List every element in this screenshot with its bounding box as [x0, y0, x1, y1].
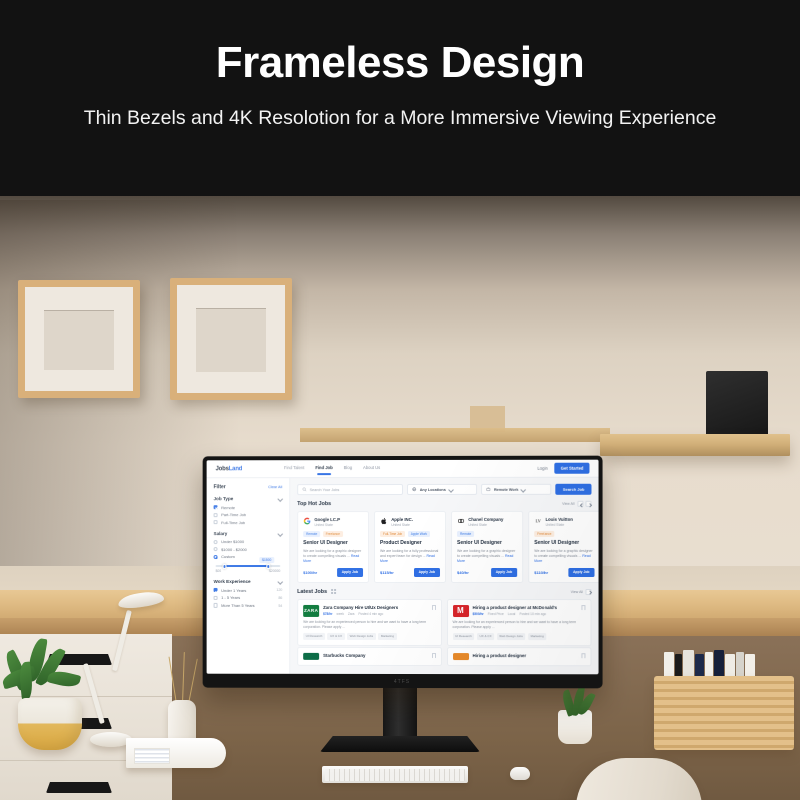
- latest-job-pay: $78/hr: [323, 612, 332, 616]
- checkbox-part-time[interactable]: Part-Time Job: [214, 512, 283, 517]
- option-count: 120: [276, 588, 282, 592]
- job-card[interactable]: LV Louis Vuitton United State Freelance: [528, 511, 598, 582]
- hot-jobs-title: Top Hot Jobs: [297, 501, 331, 507]
- latest-job-title: Hiring a product designer at McDonald's: [473, 605, 558, 611]
- checkbox-icon[interactable]: [214, 603, 218, 607]
- mouse[interactable]: [510, 767, 530, 780]
- radio-icon[interactable]: [214, 540, 218, 544]
- company-location: United State: [545, 523, 572, 527]
- hot-jobs-header: Top Hot Jobs View All: [297, 501, 591, 507]
- latest-job-tag: Web Design Jobs: [347, 633, 376, 639]
- latest-jobs-header: Latest Jobs View All: [297, 589, 591, 595]
- option-label: More Than 5 Years: [221, 603, 275, 608]
- checkbox-icon[interactable]: [214, 520, 218, 524]
- company-name: Apple INC.: [391, 517, 413, 522]
- salary-title: Salary: [214, 531, 228, 536]
- grid-view-icon[interactable]: [331, 589, 336, 594]
- chevron-down-icon[interactable]: [278, 580, 282, 584]
- slider-knob-max[interactable]: [266, 564, 271, 569]
- latest-job-period: Fixed Price: [488, 612, 504, 616]
- chanel-logo: [457, 517, 465, 525]
- monitor: 4TFS JobsLand Find Talent Find Job Blog …: [203, 456, 603, 689]
- slider-range-labels: $00 $20000: [216, 569, 281, 573]
- apply-job-button[interactable]: Apply Job: [337, 568, 363, 576]
- job-pay: $40/hr: [457, 570, 469, 575]
- job-card[interactable]: Google LC.P United State Remote Freelanc…: [297, 511, 369, 582]
- checkbox-icon[interactable]: [214, 513, 218, 517]
- apply-job-button[interactable]: Apply Job: [414, 568, 440, 576]
- latest-job-title: Hiring a product designer: [473, 653, 527, 660]
- search-icon: [302, 488, 306, 492]
- site-body: Filter Clear All Job Type Remote: [207, 478, 599, 675]
- nav-link-find-talent[interactable]: Find Talent: [284, 465, 304, 473]
- globe-icon: [412, 487, 417, 492]
- option-label: Part-Time Job: [221, 512, 282, 517]
- black-frame-on-shelf: [706, 371, 768, 441]
- option-count: 54: [278, 604, 282, 608]
- job-board-website: JobsLand Find Talent Find Job Blog About…: [207, 460, 599, 675]
- company-name: Louis Vuitton: [545, 517, 572, 522]
- search-job-button[interactable]: Search Job: [556, 484, 592, 495]
- company-location: United State: [391, 523, 413, 527]
- small-plant-pot: [558, 710, 592, 744]
- option-label: Under $1000: [221, 539, 282, 544]
- wall-shelf: [600, 434, 790, 456]
- latest-jobs-row-partial: Starbucks Company Hiring a product desig…: [297, 646, 591, 665]
- job-type-title: Job Type: [214, 496, 234, 501]
- nav-link-about-us[interactable]: About Us: [363, 465, 380, 473]
- latest-job-tag: Web Design Jobs: [497, 633, 526, 639]
- picture-frame-right: [170, 278, 292, 400]
- banner-title: Frameless Design: [216, 40, 585, 86]
- job-tag: Remote: [457, 531, 474, 537]
- job-title: Senior UI Designer: [303, 540, 363, 546]
- monitor-brand-logo: 4TFS: [394, 679, 410, 685]
- job-pay: $100/hr: [303, 570, 317, 575]
- search-bar: Search Your Jobs Any Locations: [297, 484, 591, 496]
- slider-knob-min[interactable]: [222, 564, 227, 569]
- job-title: Product Designer: [380, 540, 440, 546]
- chevron-down-icon[interactable]: [278, 497, 282, 501]
- mcdonalds-logo: M: [453, 605, 469, 617]
- job-tag: Freelance: [323, 531, 343, 537]
- checkbox-remote[interactable]: Remote: [214, 505, 283, 510]
- radio-icon[interactable]: [214, 555, 218, 559]
- radio-under-1000[interactable]: Under $1000: [214, 539, 283, 544]
- apply-job-button[interactable]: Apply Job: [491, 568, 517, 576]
- latest-jobs-controls: View All: [571, 589, 592, 595]
- location-value: Any Locations: [420, 488, 446, 492]
- latest-job-card[interactable]: Starbucks Company: [297, 646, 441, 665]
- prev-arrow-icon[interactable]: [577, 501, 583, 507]
- logo-part-1: Jobs: [216, 466, 229, 472]
- main-content: Search Your Jobs Any Locations: [290, 478, 598, 675]
- option-label: Remote: [221, 505, 282, 510]
- bookmark-icon[interactable]: [432, 653, 436, 658]
- frame-artwork: [196, 308, 266, 372]
- plant-pot: [18, 698, 82, 750]
- job-title: Senior UI Designer: [457, 540, 517, 546]
- latest-job-card[interactable]: M Hiring a product designer at McDonald'…: [447, 599, 592, 646]
- chevron-down-icon[interactable]: [449, 488, 453, 492]
- checkbox-icon[interactable]: [214, 596, 218, 600]
- worktype-value: Remote Work: [494, 488, 518, 492]
- filter-title: Filter: [214, 484, 226, 490]
- zara-logo: ZARA: [303, 605, 319, 617]
- view-all-link[interactable]: View All: [562, 502, 574, 506]
- latest-job-tag: Marketing: [378, 633, 396, 639]
- header-banner: Frameless Design Thin Bezels and 4K Reso…: [0, 0, 800, 196]
- filter-header: Filter Clear All: [214, 484, 283, 490]
- job-title: Senior UI Designer: [534, 540, 594, 546]
- paper-text-lines: [134, 748, 170, 764]
- job-pay: $110/hr: [534, 570, 548, 575]
- option-label: $1000 - $2000: [221, 547, 282, 552]
- bookmark-icon[interactable]: [432, 605, 436, 610]
- keyboard-keys: [325, 769, 465, 781]
- chevron-down-icon[interactable]: [278, 531, 282, 535]
- monitor-stand-base: [320, 736, 480, 752]
- slider-max-label: $20000: [269, 569, 280, 573]
- picture-frame-left: [18, 280, 140, 398]
- worktype-select[interactable]: Remote Work: [481, 484, 551, 495]
- slider-min-label: $00: [216, 569, 222, 573]
- chevron-down-icon[interactable]: [521, 488, 525, 492]
- checkbox-1-5-years[interactable]: 1 - 5 Years 86: [214, 595, 283, 600]
- latest-job-description: We are looking for an experienced person…: [453, 620, 586, 631]
- job-type-header[interactable]: Job Type: [214, 496, 283, 501]
- drawer-handle[interactable]: [46, 782, 112, 793]
- orange-company-logo: [453, 653, 469, 660]
- checkbox-icon[interactable]: [214, 505, 218, 509]
- checkbox-full-time[interactable]: Full-Time Job: [214, 520, 283, 525]
- apple-logo: [380, 517, 388, 525]
- keyboard[interactable]: [322, 766, 468, 783]
- get-started-button[interactable]: Get Started: [555, 463, 590, 473]
- banner-subtitle: Thin Bezels and 4K Resolotion for a More…: [84, 104, 717, 132]
- checkbox-under-1-year[interactable]: Under 1 Years 120: [214, 588, 283, 593]
- next-arrow-icon[interactable]: [585, 589, 591, 595]
- filter-group-salary: Salary Under $1000 $1000 - $2000: [214, 531, 283, 574]
- apply-job-button[interactable]: Apply Job: [568, 568, 595, 576]
- latest-job-tag: Marketing: [528, 633, 546, 639]
- company-location: United State: [468, 523, 503, 527]
- room-scene: 4TFS JobsLand Find Talent Find Job Blog …: [0, 170, 800, 800]
- louis-vuitton-logo: LV: [534, 517, 542, 525]
- radio-icon[interactable]: [214, 547, 218, 551]
- nav-links: Find Talent Find Job Blog About Us: [284, 465, 380, 473]
- bookmark-icon[interactable]: [581, 653, 585, 658]
- latest-jobs-row: ZARA Zara Company Hire UI/Ux Designers $…: [297, 599, 591, 646]
- next-arrow-icon[interactable]: [585, 501, 591, 507]
- salary-header[interactable]: Salary: [214, 531, 283, 536]
- hot-jobs-controls: View All: [562, 501, 591, 507]
- experience-title: Work Experience: [214, 579, 251, 584]
- latest-job-pay: $500/hr: [473, 612, 484, 616]
- latest-job-meta1: Local: [508, 613, 516, 617]
- location-select[interactable]: Any Locations: [407, 484, 477, 495]
- latest-job-tag: UI Research: [303, 633, 325, 639]
- company-location: United State: [314, 523, 340, 527]
- latest-job-meta1: Zara: [348, 612, 355, 616]
- latest-jobs-title: Latest Jobs: [297, 589, 327, 595]
- job-pay: $115/hr: [380, 570, 394, 575]
- wall-trim: [300, 428, 610, 442]
- hot-jobs-row: Google LC.P United State Remote Freelanc…: [297, 511, 591, 582]
- site-logo[interactable]: JobsLand: [216, 466, 243, 472]
- nav-actions: Login Get Started: [537, 463, 589, 473]
- slider-fill: [223, 565, 268, 567]
- company-name: Google LC.P: [314, 517, 340, 522]
- latest-job-period: week: [336, 612, 343, 616]
- frame-artwork: [44, 310, 114, 370]
- job-card[interactable]: Apple INC. United State Full-Time Job Ap…: [374, 511, 446, 582]
- job-card[interactable]: Chanel Company United State Remote Senio…: [451, 511, 523, 582]
- google-logo: [303, 517, 311, 525]
- slider-value-bubble: $1500: [259, 557, 274, 563]
- nav-link-find-job[interactable]: Find Job: [315, 465, 332, 473]
- slider-track[interactable]: [216, 565, 281, 567]
- salary-slider[interactable]: $1500 $00 $20000: [216, 565, 281, 573]
- latest-job-card[interactable]: Hiring a product designer: [447, 647, 592, 666]
- clear-all-link[interactable]: Clear All: [268, 485, 282, 489]
- search-input[interactable]: Search Your Jobs: [297, 484, 403, 495]
- filter-group-job-type: Job Type Remote Part-Time Job: [214, 496, 283, 525]
- login-link[interactable]: Login: [537, 466, 547, 471]
- filter-sidebar: Filter Clear All Job Type Remote: [207, 478, 291, 674]
- latest-job-tag: UI Research: [453, 633, 475, 639]
- latest-job-card[interactable]: ZARA Zara Company Hire UI/Ux Designers $…: [297, 599, 441, 646]
- site-navbar: JobsLand Find Talent Find Job Blog About…: [207, 460, 599, 479]
- latest-job-meta2: Posted 4 min ago: [358, 612, 383, 616]
- job-tag: Remote: [303, 531, 320, 537]
- job-tag: Freelance: [534, 531, 554, 537]
- nav-link-blog[interactable]: Blog: [344, 465, 352, 473]
- job-tag: Apple Work: [408, 531, 430, 537]
- latest-job-meta2: Posted 10 min ago: [519, 613, 546, 617]
- wicker-basket: [654, 676, 794, 750]
- monitor-screen[interactable]: JobsLand Find Talent Find Job Blog About…: [207, 460, 599, 675]
- bookmark-icon[interactable]: [581, 605, 585, 610]
- latest-job-description: We are looking for an experienced person…: [303, 620, 435, 631]
- view-all-link[interactable]: View All: [571, 590, 583, 594]
- svg-text:LV: LV: [536, 519, 542, 524]
- company-name: Chanel Company: [468, 517, 503, 522]
- monitor-stand-neck: [383, 682, 417, 740]
- latest-job-title: Zara Company Hire UI/Ux Designers: [323, 605, 398, 611]
- latest-job-tag: UX & CX: [327, 633, 344, 639]
- filter-group-experience: Work Experience Under 1 Years 120 1 - 5 …: [214, 579, 283, 608]
- briefcase-icon: [486, 487, 491, 492]
- starbucks-logo: [303, 652, 319, 659]
- checkbox-icon[interactable]: [214, 588, 218, 592]
- radio-1000-2000[interactable]: $1000 - $2000: [214, 547, 283, 552]
- option-label: 1 - 5 Years: [221, 595, 275, 600]
- experience-header[interactable]: Work Experience: [214, 579, 283, 584]
- logo-part-2: Land: [229, 466, 242, 472]
- checkbox-more-than-5-years[interactable]: More Than 5 Years 54: [214, 603, 283, 608]
- job-tag: Full-Time Job: [380, 531, 405, 537]
- option-count: 86: [278, 596, 282, 600]
- latest-job-tag: UX & CX: [477, 633, 494, 639]
- latest-job-title: Starbucks Company: [323, 652, 365, 659]
- option-label: Under 1 Years: [221, 588, 273, 593]
- search-placeholder: Search Your Jobs: [310, 488, 340, 492]
- option-label: Full-Time Job: [221, 520, 282, 525]
